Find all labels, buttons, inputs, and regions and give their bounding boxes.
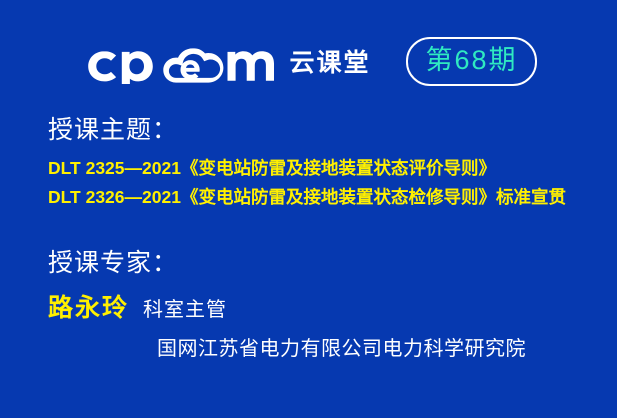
topic-standard-line: DLT 2325—2021《变电站防雷及接地装置状态评价导则》 — [48, 154, 599, 182]
expert-job-title: 科室主管 — [143, 298, 227, 322]
topic-standard-line: DLT 2326—2021《变电站防雷及接地装置状态检修导则》标准宣贯 — [48, 183, 599, 211]
topic-standard-list: DLT 2325—2021《变电站防雷及接地装置状态评价导则》 DLT 2326… — [48, 154, 599, 211]
cpem-logo — [80, 38, 276, 84]
expert-name-row: 路永玲 科室主管 — [48, 293, 599, 323]
expert-name: 路永玲 — [48, 293, 129, 323]
presentation-slide: 云课堂 第68期 授课主题： DLT 2325—2021《变电站防雷及接地装置状… — [0, 0, 617, 418]
expert-block: 授课专家： 路永玲 科室主管 国网江苏省电力有限公司电力科学研究院 — [48, 248, 599, 361]
topic-label: 授课主题： — [48, 115, 599, 146]
brand-lockup: 云课堂 第68期 — [80, 37, 536, 86]
header-row: 云课堂 第68期 — [0, 30, 617, 92]
topic-block: 授课主题： DLT 2325—2021《变电站防雷及接地装置状态评价导则》 DL… — [48, 115, 599, 211]
expert-label: 授课专家： — [48, 248, 599, 279]
edition-badge: 第68期 — [406, 37, 536, 86]
brand-subtitle: 云课堂 — [289, 51, 370, 76]
expert-organization: 国网江苏省电力有限公司电力科学研究院 — [157, 337, 599, 361]
